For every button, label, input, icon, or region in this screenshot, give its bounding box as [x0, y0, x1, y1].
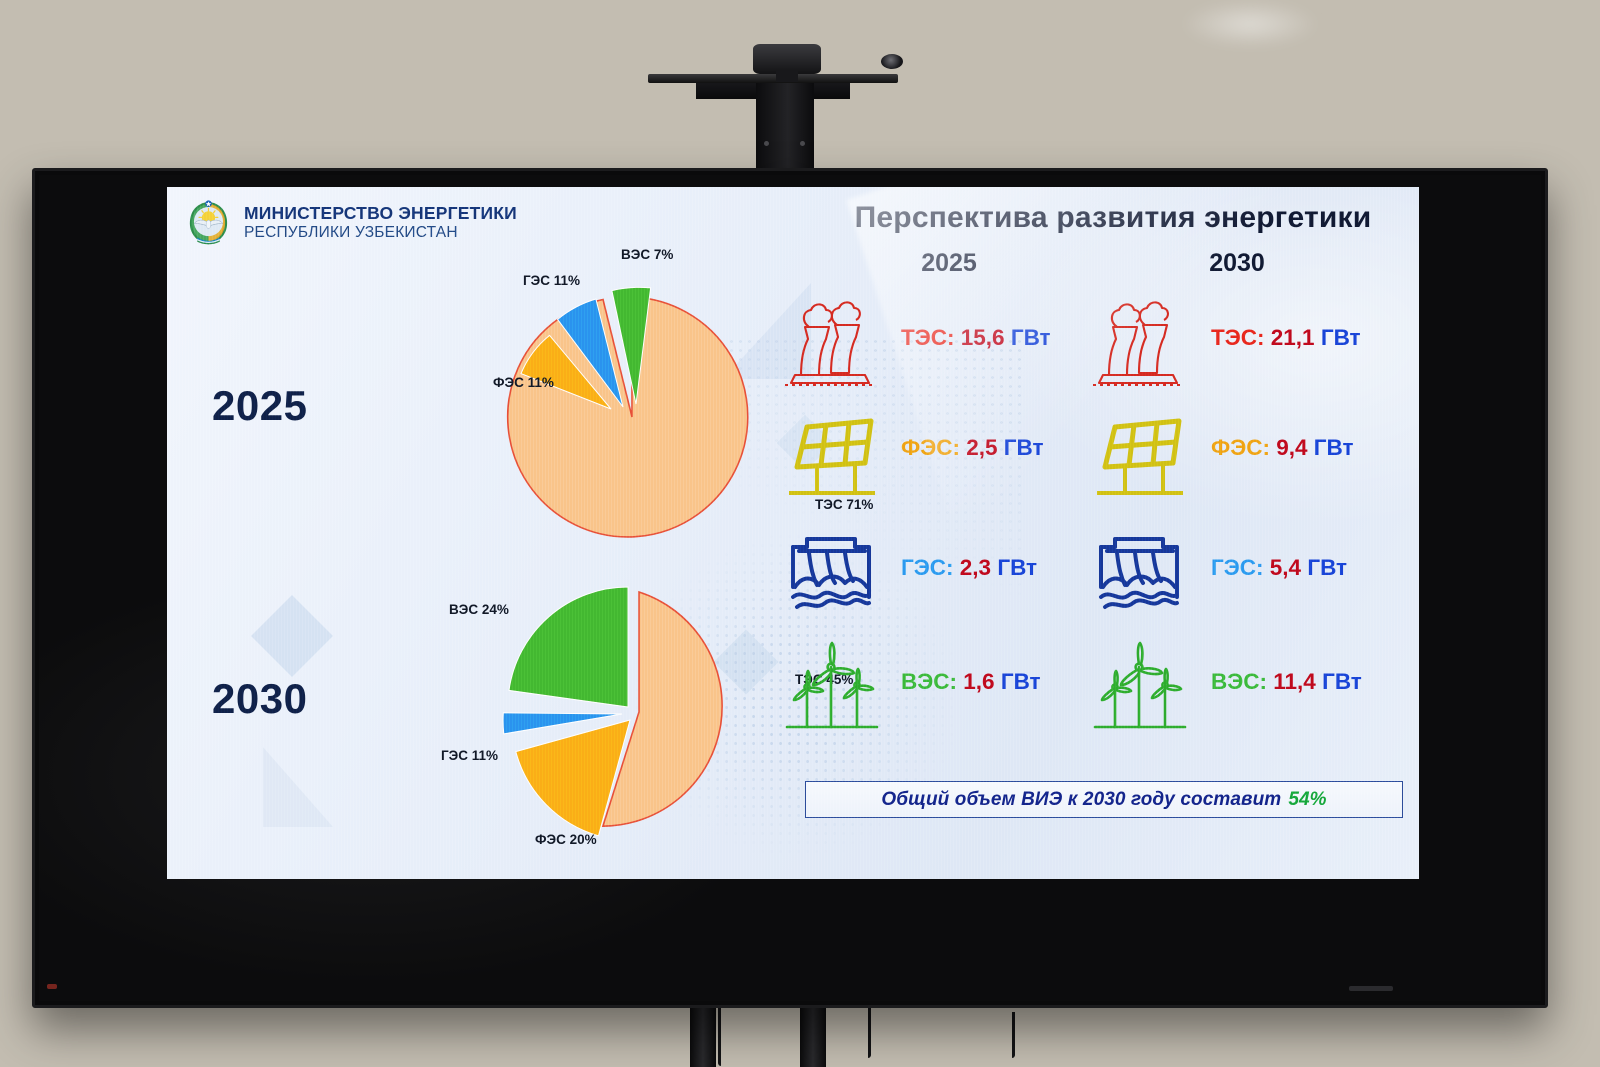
pie-label-ves-2025: ВЭС 7% — [621, 247, 673, 262]
pie-slice-ves-2030 — [509, 587, 628, 707]
capacity-number-thermal-2030: 21,1 — [1271, 325, 1315, 350]
capacity-row-thermal: ТЭС: 15,6 ГВт ТЭС: 21,1 ГВт — [779, 295, 1419, 395]
wind-turbine-icon — [1087, 639, 1191, 735]
year-label-2025: 2025 — [212, 382, 307, 430]
camera-mount-post — [756, 83, 814, 173]
capacity-unit: ГВт — [997, 555, 1037, 580]
capacity-label-hydro: ГЭС: — [1211, 555, 1264, 580]
capacity-value-thermal-2030: ТЭС: 21,1 ГВт — [1211, 325, 1361, 351]
column-header-2030: 2030 — [1167, 249, 1307, 278]
wind-turbine-icon — [779, 639, 883, 735]
capacity-label-thermal: ТЭС: — [1211, 325, 1265, 350]
year-label-2030: 2030 — [212, 675, 307, 723]
pie-chart-2025: ВЭС 7% ГЭС 11% ФЭС 11% ТЭС 71% — [467, 257, 797, 557]
capacity-unit: ГВт — [1004, 435, 1044, 460]
capacity-label-wind: ВЭС: — [901, 669, 957, 694]
ministry-branding: МИНИСТЕРСТВО ЭНЕРГЕТИКИ РЕСПУБЛИКИ УЗБЕК… — [185, 199, 517, 246]
capacity-unit: ГВт — [1322, 669, 1362, 694]
column-header-2025: 2025 — [879, 249, 1019, 278]
pie-2030-svg — [467, 562, 797, 862]
capacity-unit: ГВт — [1321, 325, 1361, 350]
hydro-dam-icon — [779, 525, 883, 621]
summary-callout-box: Общий объем ВИЭ к 2030 году составит 54% — [805, 781, 1403, 818]
power-cable-far-right — [1012, 1012, 1015, 1058]
camera-neck — [776, 70, 798, 82]
camera-shelf — [648, 74, 898, 83]
capacity-number-solar-2030: 9,4 — [1276, 435, 1307, 460]
power-led-indicator — [47, 984, 57, 989]
power-cable-left — [718, 1008, 721, 1066]
capacity-unit: ГВт — [1001, 669, 1041, 694]
pie-2025-svg — [467, 257, 797, 557]
presentation-slide: МИНИСТЕРСТВО ЭНЕРГЕТИКИ РЕСПУБЛИКИ УЗБЕК… — [167, 187, 1419, 879]
summary-text: Общий объем ВИЭ к 2030 году составит — [881, 789, 1281, 811]
pie-label-fes-2030: ФЭС 20% — [535, 832, 597, 847]
capacity-number-wind-2025: 1,6 — [963, 669, 994, 694]
capacity-label-hydro: ГЭС: — [901, 555, 954, 580]
capacity-value-solar-2025: ФЭС: 2,5 ГВт — [901, 435, 1044, 461]
summary-percent-badge: 54% — [1288, 789, 1326, 811]
television-display: МИНИСТЕРСТВО ЭНЕРГЕТИКИ РЕСПУБЛИКИ УЗБЕК… — [32, 168, 1548, 1008]
webcam-mount-rig — [648, 42, 898, 172]
pie-label-ges-2030: ГЭС 11% — [441, 748, 498, 763]
background-triangle — [263, 747, 333, 827]
capacity-value-wind-2025: ВЭС: 1,6 ГВт — [901, 669, 1041, 695]
solar-panel-icon — [1087, 405, 1191, 501]
wall-light-reflection — [1180, 0, 1320, 48]
power-cable-right — [868, 1008, 871, 1058]
capacity-row-wind: ВЭС: 1,6 ГВт ВЭС: 11,4 ГВт — [779, 639, 1419, 739]
tv-brand-logo — [1349, 986, 1393, 991]
page-title: Перспектива развития энергетики — [807, 201, 1419, 235]
hydro-dam-icon — [1087, 525, 1191, 621]
tv-stand-left — [690, 1006, 716, 1067]
mount-screw-left — [764, 141, 769, 146]
ministry-name-line2: РЕСПУБЛИКИ УЗБЕКИСТАН — [244, 224, 517, 241]
capacity-number-hydro-2030: 5,4 — [1270, 555, 1301, 580]
capacity-value-hydro-2030: ГЭС: 5,4 ГВт — [1211, 555, 1347, 581]
capacity-number-hydro-2025: 2,3 — [960, 555, 991, 580]
thermal-power-plant-icon — [779, 295, 883, 391]
tv-stand-right — [800, 1006, 826, 1067]
tv-screen-surface: МИНИСТЕРСТВО ЭНЕРГЕТИКИ РЕСПУБЛИКИ УЗБЕК… — [39, 175, 1541, 1001]
capacity-value-hydro-2025: ГЭС: 2,3 ГВт — [901, 555, 1037, 581]
capacity-value-solar-2030: ФЭС: 9,4 ГВт — [1211, 435, 1354, 461]
capacity-unit: ГВт — [1314, 435, 1354, 460]
capacity-label-thermal: ТЭС: — [901, 325, 955, 350]
capacity-value-wind-2030: ВЭС: 11,4 ГВт — [1211, 669, 1362, 695]
uzbekistan-coat-of-arms-icon — [185, 199, 232, 246]
capacity-row-hydro: ГЭС: 2,3 ГВт ГЭС: 5,4 ГВт — [779, 525, 1419, 625]
pie-label-ges-2025: ГЭС 11% — [523, 273, 580, 288]
capacity-unit: ГВт — [1011, 325, 1051, 350]
capacity-label-wind: ВЭС: — [1211, 669, 1267, 694]
background-diamond — [251, 595, 333, 677]
solar-panel-icon — [779, 405, 883, 501]
capacity-label-solar: ФЭС: — [901, 435, 960, 460]
camera-lens-icon — [881, 54, 903, 69]
ministry-name-line1: МИНИСТЕРСТВО ЭНЕРГЕТИКИ — [244, 204, 517, 224]
capacity-unit: ГВт — [1307, 555, 1347, 580]
capacity-value-thermal-2025: ТЭС: 15,6 ГВт — [901, 325, 1051, 351]
capacity-number-thermal-2025: 15,6 — [961, 325, 1005, 350]
mount-screw-right — [800, 141, 805, 146]
capacity-number-wind-2030: 11,4 — [1273, 669, 1316, 694]
capacity-number-solar-2025: 2,5 — [966, 435, 997, 460]
thermal-power-plant-icon — [1087, 295, 1191, 391]
capacity-row-solar: ФЭС: 2,5 ГВт ФЭС: 9,4 ГВт — [779, 405, 1419, 505]
pie-label-ves-2030: ВЭС 24% — [449, 602, 509, 617]
capacity-label-solar: ФЭС: — [1211, 435, 1270, 460]
pie-label-fes-2025: ФЭС 11% — [493, 375, 554, 390]
pie-chart-2030: ВЭС 24% ГЭС 11% ФЭС 20% ТЭС 45% — [467, 562, 797, 862]
